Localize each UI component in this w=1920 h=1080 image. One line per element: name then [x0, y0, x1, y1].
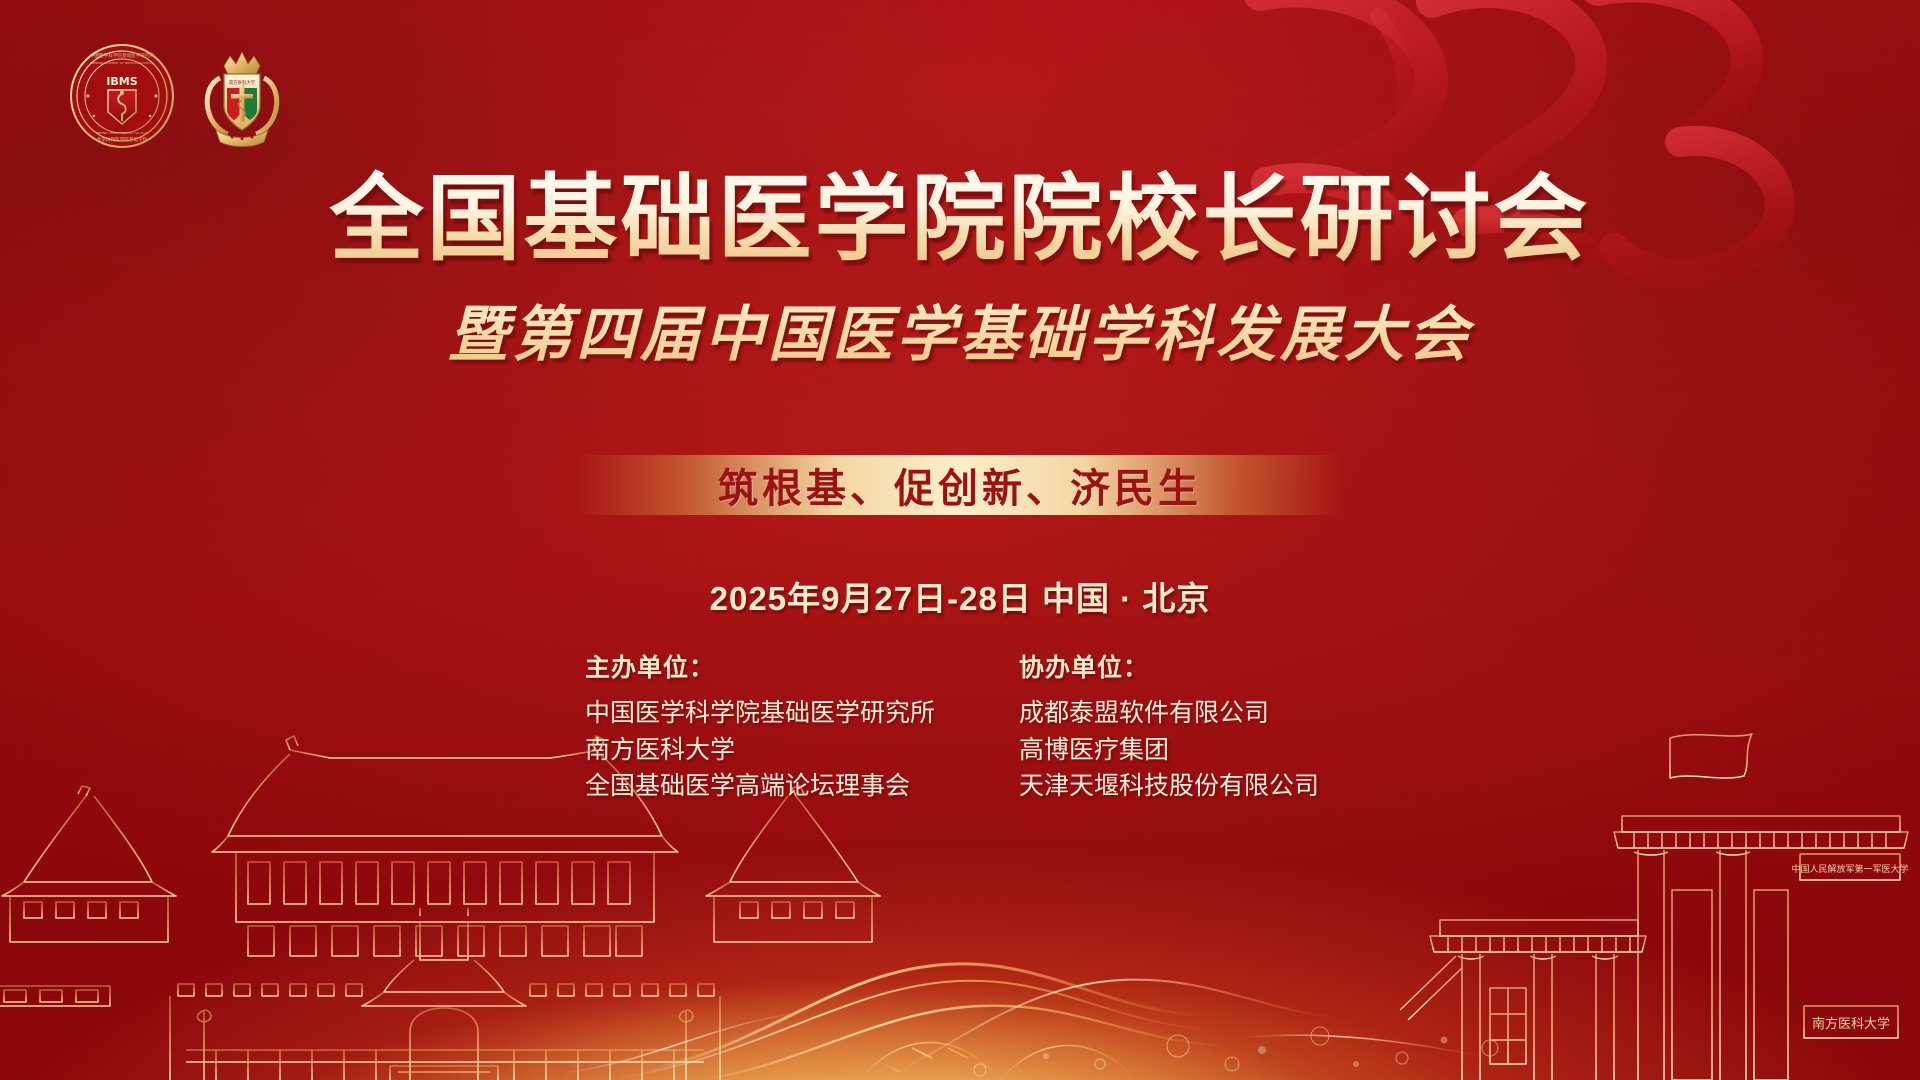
slogan-text: 筑根基、促创新、济民生	[718, 456, 1202, 514]
ibms-cams-pumc-emblem: 中国医学科学院基础医学研究所 北京协和医学院基础学院 CHINESE ACADE…	[70, 44, 174, 148]
slogan-ribbon: 筑根基、促创新、济民生	[578, 455, 1342, 515]
southern-medical-university-emblem: 南方医科大学	[190, 44, 294, 148]
svg-text:IBMS: IBMS	[106, 75, 137, 88]
logo-group: 中国医学科学院基础医学研究所 北京协和医学院基础学院 CHINESE ACADE…	[70, 44, 294, 148]
svg-text:PEKING UNION MEDICAL COLLEGE: PEKING UNION MEDICAL COLLEGE	[96, 131, 147, 135]
svg-text:中国医学科学院基础医学研究所: 中国医学科学院基础医学研究所	[90, 52, 155, 59]
date-location-line: 2025年9月27日-28日 中国 · 北京	[0, 572, 1920, 620]
conference-banner: 中国医学科学院基础医学研究所 北京协和医学院基础学院 CHINESE ACADE…	[0, 0, 1920, 1080]
bottom-core-glow	[0, 820, 1920, 1080]
title-block: 全国基础医学院院校长研讨会 暨第四届中国医学基础学科发展大会	[0, 168, 1920, 373]
svg-text:CHINESE ACADEMY OF MEDICAL SCI: CHINESE ACADEMY OF MEDICAL SCIENCES	[90, 61, 154, 65]
svg-text:北京协和医学院基础学院: 北京协和医学院基础学院	[97, 136, 148, 143]
page-title: 全国基础医学院院校长研讨会	[0, 168, 1920, 270]
page-subtitle: 暨第四届中国医学基础学科发展大会	[0, 286, 1920, 373]
